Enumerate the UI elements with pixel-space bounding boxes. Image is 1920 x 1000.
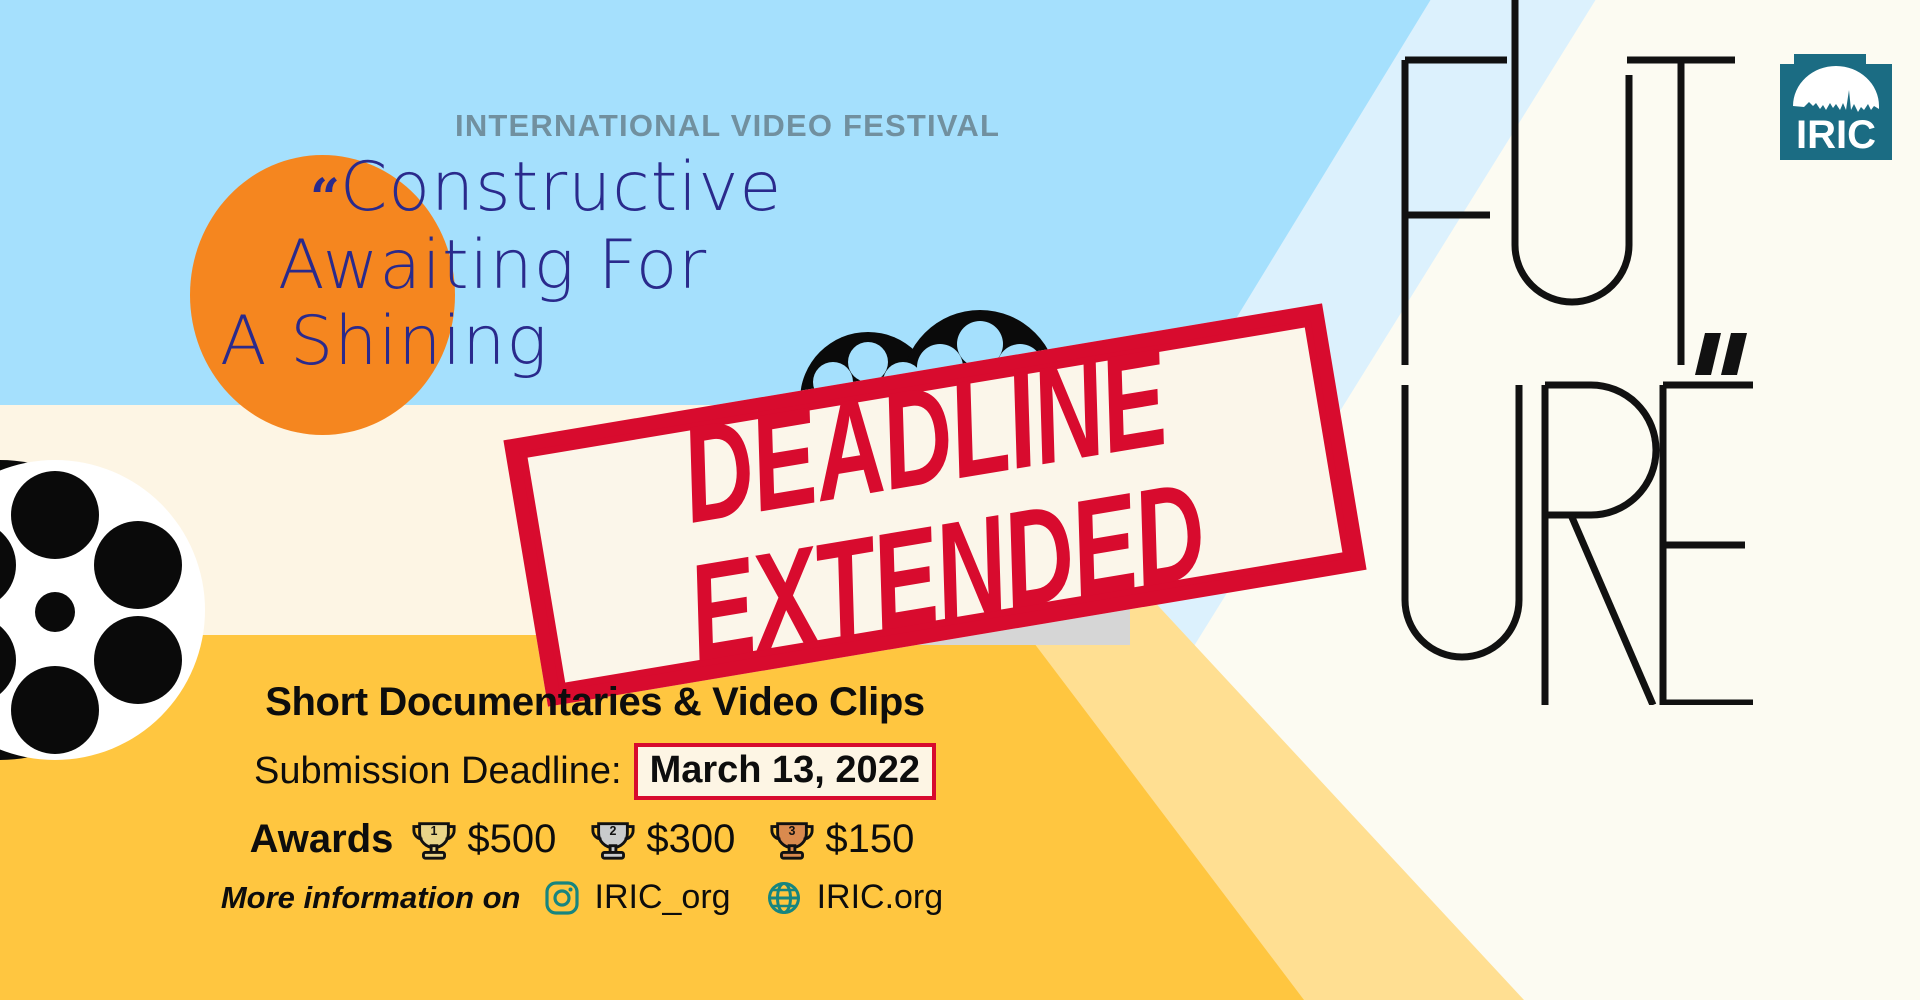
svg-text:1: 1	[431, 824, 438, 838]
award-amount-3: $150	[825, 817, 914, 862]
festival-kicker: INTERNATIONAL VIDEO FESTIVAL	[455, 108, 1000, 144]
festival-poster: INTERNATIONAL VIDEO FESTIVAL “Constructi…	[0, 0, 1920, 1000]
headline-block: “Constructive Awaiting For A Shining	[220, 150, 980, 381]
category-line: Short Documentaries & Video Clips	[160, 680, 1030, 725]
iric-logo-text: IRIC	[1796, 113, 1876, 157]
award-amount-1: $500	[467, 817, 556, 862]
headline-line-1: Constructive	[340, 148, 782, 227]
awards-line: Awards 1 $500	[160, 816, 1030, 862]
deadline-label: Submission Deadline:	[254, 750, 622, 793]
info-block: Short Documentaries & Video Clips Submis…	[160, 680, 1030, 917]
iric-logo[interactable]: IRIC	[1780, 48, 1892, 160]
instagram-icon[interactable]	[545, 881, 579, 915]
more-info-line: More information on IRIC_org IRIC.	[160, 878, 1030, 917]
trophy-bronze-icon: 3	[769, 816, 815, 862]
deadline-date-badge: March 13, 2022	[634, 743, 936, 800]
open-quote-mark: “	[310, 168, 340, 229]
future-wordmark	[1395, 0, 1755, 705]
awards-label: Awards	[250, 817, 394, 862]
svg-text:2: 2	[610, 824, 617, 838]
globe-icon[interactable]	[767, 881, 801, 915]
deadline-line: Submission Deadline: March 13, 2022	[160, 743, 1030, 800]
headline-line-2: Awaiting For	[220, 228, 980, 304]
website-url[interactable]: IRIC.org	[817, 878, 944, 917]
award-amount-2: $300	[646, 817, 735, 862]
more-info-label: More information on	[221, 880, 521, 916]
instagram-handle[interactable]: IRIC_org	[595, 878, 731, 917]
close-quote-mark	[1695, 333, 1747, 375]
trophy-silver-icon: 2	[590, 816, 636, 862]
svg-text:3: 3	[789, 824, 796, 838]
trophy-gold-icon: 1	[411, 816, 457, 862]
